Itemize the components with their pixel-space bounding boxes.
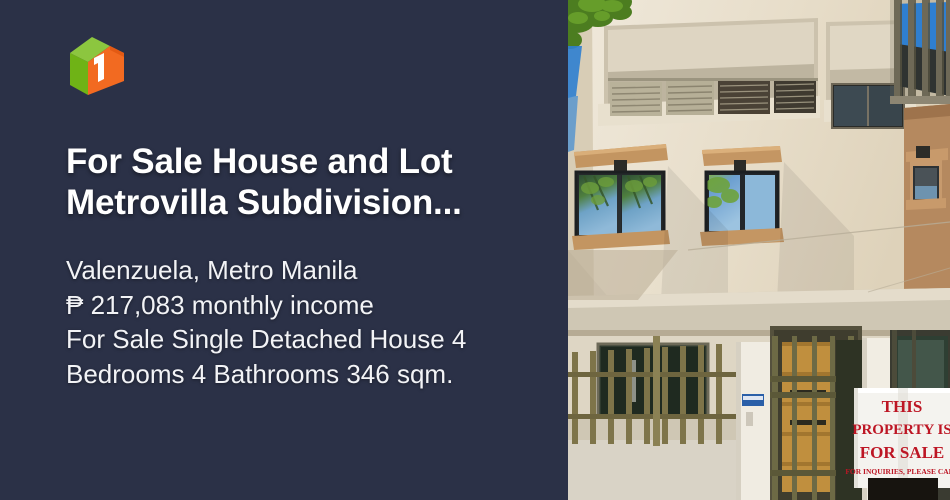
banner-line-2: PROPERTY IS bbox=[852, 422, 950, 438]
banner-line-1: THIS bbox=[882, 397, 923, 416]
banner-line-4: FOR INQUIRIES, PLEASE CALL bbox=[845, 467, 950, 476]
property-photo: THIS PROPERTY IS FOR SALE FOR INQUIRIES,… bbox=[568, 0, 950, 500]
info-panel: For Sale House and Lot Metrovilla Subdiv… bbox=[0, 0, 568, 500]
banner-line-3: FOR SALE bbox=[860, 443, 945, 462]
page-title: For Sale House and Lot Metrovilla Subdiv… bbox=[66, 142, 546, 223]
listing-location: Valenzuela, Metro Manila bbox=[66, 253, 546, 288]
listing-text-block: For Sale House and Lot Metrovilla Subdiv… bbox=[66, 142, 546, 392]
listing-description: For Sale Single Detached House 4 Bedroom… bbox=[66, 322, 536, 391]
property-listing-card: For Sale House and Lot Metrovilla Subdiv… bbox=[0, 0, 950, 500]
house-one-logo-icon[interactable] bbox=[66, 33, 128, 97]
listing-price: ₱ 217,083 monthly income bbox=[66, 288, 546, 323]
for-sale-banner: THIS PROPERTY IS FOR SALE FOR INQUIRIES,… bbox=[845, 388, 950, 500]
